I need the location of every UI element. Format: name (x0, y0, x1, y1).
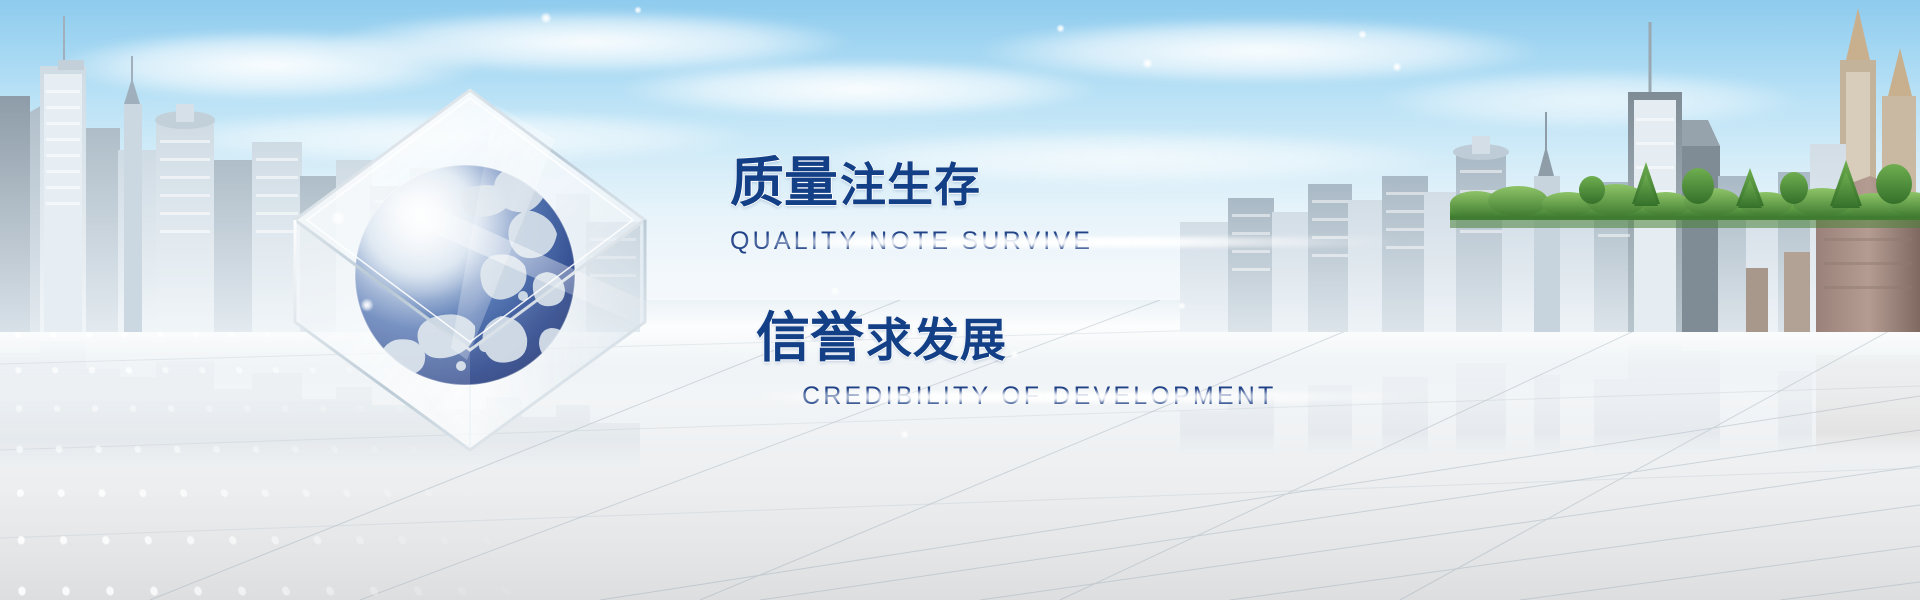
slogan-quality-cn: 质量注生存 (730, 155, 1430, 211)
slogan-group: 质量注生存 QUALITY NOTE SURVIVE 信誉求发展 CREDIBI… (730, 155, 1430, 411)
tree-line (1450, 160, 1920, 220)
slogan-quality-sheen (720, 237, 1400, 247)
slogan-credibility-cn-lead: 信誉 (756, 306, 864, 369)
slogan-credibility: 信誉求发展 CREDIBILITY OF DEVELOPMENT (756, 310, 1430, 411)
slogan-quality: 质量注生存 QUALITY NOTE SURVIVE (730, 155, 1430, 256)
slogan-quality-cn-tail: 注生存 (840, 158, 981, 212)
glass-cube-globe-artwork (255, 60, 685, 460)
slogan-credibility-cn-tail: 求发展 (866, 313, 1007, 367)
slogan-credibility-sheen (746, 392, 1426, 402)
slogan-quality-cn-lead: 质量 (730, 151, 838, 214)
hero-banner: 质量注生存 QUALITY NOTE SURVIVE 信誉求发展 CREDIBI… (0, 0, 1920, 600)
slogan-credibility-cn: 信誉求发展 (756, 310, 1430, 366)
